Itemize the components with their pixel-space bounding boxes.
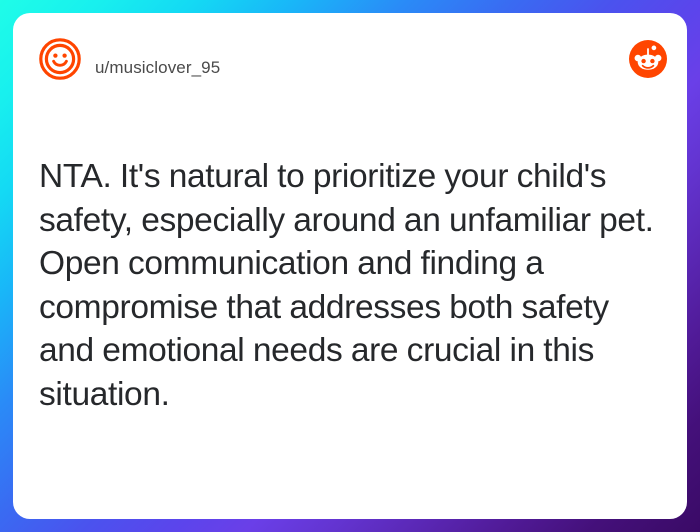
reddit-snoo-icon[interactable] [629, 40, 667, 78]
screenshot-stage: u/musiclover_95 NTA. It's natural to [0, 0, 700, 532]
username-label[interactable]: u/musiclover_95 [95, 57, 220, 79]
avatar-smiley-icon[interactable] [39, 38, 81, 80]
comment-body-text: NTA. It's natural to prioritize your chi… [39, 155, 661, 416]
reddit-comment-card: u/musiclover_95 NTA. It's natural to [13, 13, 687, 519]
card-header: u/musiclover_95 [13, 13, 687, 105]
